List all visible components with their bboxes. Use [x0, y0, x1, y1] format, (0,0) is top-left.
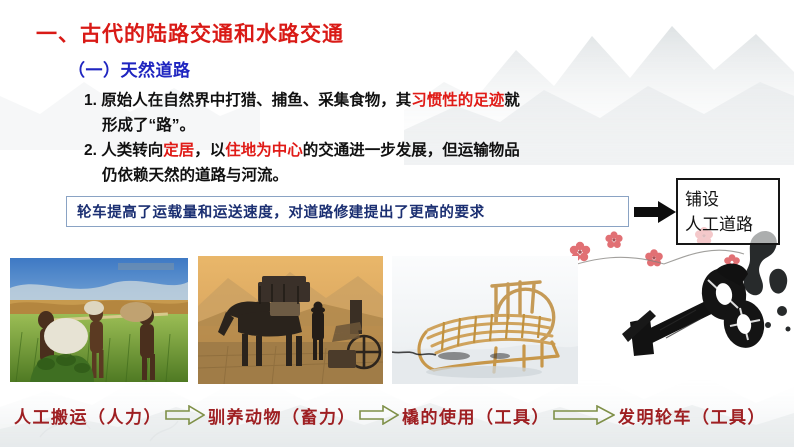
caption-label-3: 橇的使用（工具） [402, 403, 550, 428]
caption-arrow-2-icon [359, 405, 399, 425]
photo-wooden-sled [392, 256, 578, 384]
right-arrow-icon [634, 200, 676, 224]
result-box: 铺设 人工道路 [676, 178, 780, 245]
body-item-1-highlight: 习惯性的足迹 [411, 92, 504, 109]
caption-row: 人工搬运（人力） 驯养动物（畜力） 橇的使用（工具） 发明轮车（工具） [0, 398, 794, 432]
caption-label-1: 人工搬运（人力） [14, 403, 162, 428]
body-text-block: 1. 原始人在自然界中打猎、捕鱼、采集食物，其习惯性的足迹就 形成了“路”。 2… [84, 88, 684, 188]
body-item-2-text-a: 2. 人类转向 [84, 142, 163, 159]
photo-pack-animal [198, 256, 383, 384]
caption-arrow-3-icon [553, 405, 615, 425]
body-item-2-line-2: 仍依赖天然的道路与河流。 [84, 163, 684, 188]
body-item-2-text-b: ，以 [194, 142, 225, 159]
body-item-1-line-1: 1. 原始人在自然界中打猎、捕鱼、采集食物，其习惯性的足迹就 [84, 88, 684, 113]
caption-arrow-1-icon [165, 405, 205, 425]
callout-box: 轮车提高了运载量和运送速度，对道路修建提出了更高的要求 [66, 196, 629, 227]
body-item-2-highlight-2: 住地为中心 [225, 142, 303, 159]
photo-human-carrying [10, 258, 188, 382]
body-item-1-text-b: 就 [504, 92, 520, 109]
body-item-2-highlight-1: 定居 [163, 142, 194, 159]
caption-label-2: 驯养动物（畜力） [208, 403, 356, 428]
body-item-1-text-a: 1. 原始人在自然界中打猎、捕鱼、采集食物，其 [84, 92, 411, 109]
body-item-1-line-2: 形成了“路”。 [84, 113, 684, 138]
caption-label-4: 发明轮车（工具） [618, 403, 766, 428]
callout-text: 轮车提高了运载量和运送速度，对道路修建提出了更高的要求 [77, 201, 485, 222]
body-item-2-line-1: 2. 人类转向定居，以住地为中心的交通进一步发展，但运输物品 [84, 138, 684, 163]
slide-title: 一、古代的陆路交通和水路交通 [36, 18, 344, 48]
slide-canvas: 一、古代的陆路交通和水路交通 （一）天然道路 1. 原始人在自然界中打猎、捕鱼、… [0, 0, 794, 447]
slide-subtitle: （一）天然道路 [68, 56, 191, 81]
result-box-line-1: 铺设 [685, 187, 778, 212]
photo-ancient-cart [620, 252, 770, 380]
result-box-line-2: 人工道路 [685, 212, 778, 237]
body-item-2-text-c: 的交通进一步发展，但运输物品 [303, 142, 520, 159]
